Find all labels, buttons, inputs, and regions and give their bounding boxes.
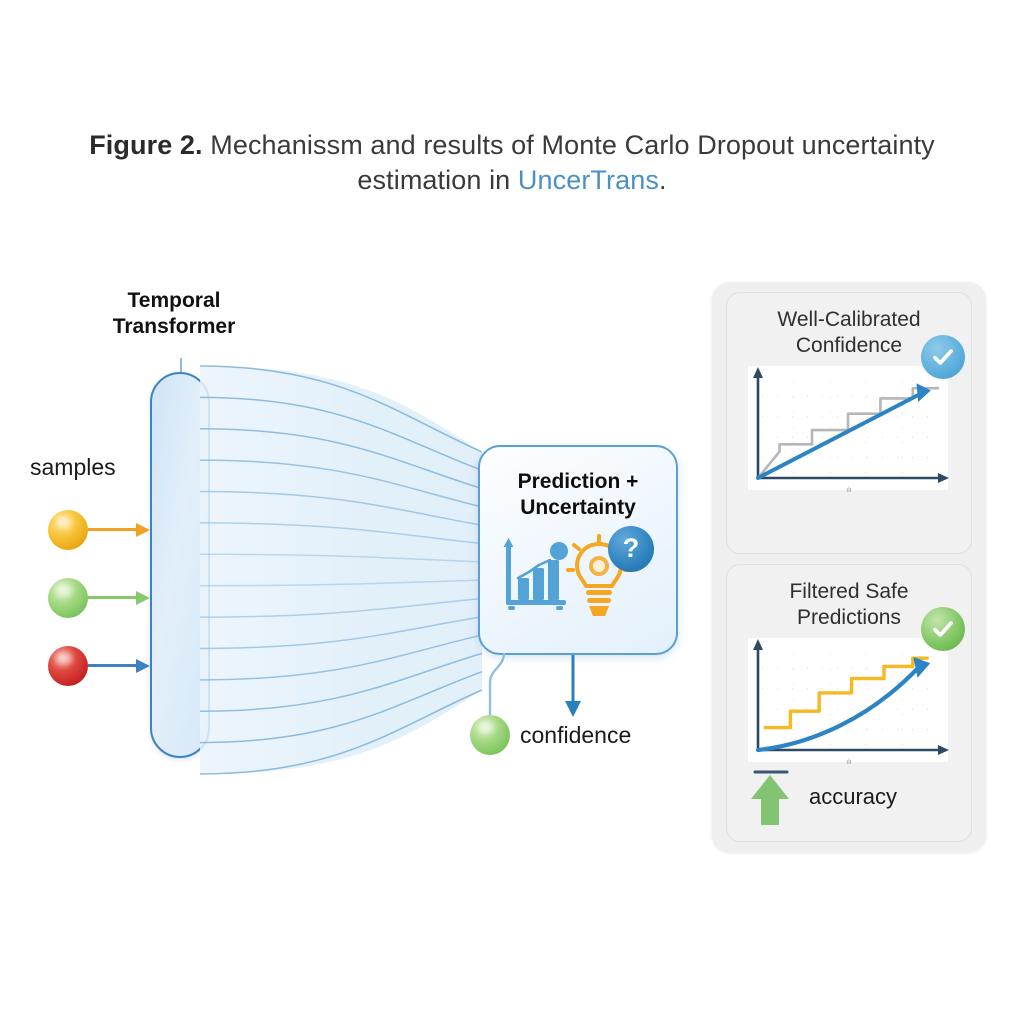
dropout-flow-lines: [200, 360, 500, 780]
check-badge-blue-icon: [921, 335, 965, 379]
figure-number: Figure 2.: [89, 130, 202, 160]
output-arrow: [560, 655, 586, 719]
transformer-tick-mark: [180, 358, 182, 372]
module-title-line-2: Transformer: [88, 314, 260, 340]
mechanism-diagram: Temporal Transformer samples: [0, 260, 710, 820]
question-badge-icon: ?: [608, 526, 654, 572]
prediction-title-line-1: Prediction +: [480, 469, 676, 495]
samples-label: samples: [30, 454, 116, 481]
prediction-box-title: Prediction + Uncertainty: [480, 469, 676, 522]
sample-sphere-orange: [48, 510, 88, 550]
sample-sphere-green: [48, 578, 88, 618]
card-top-title-line-1: Well-Calibrated: [733, 307, 965, 333]
check-glyph: [930, 616, 956, 642]
figure-root: Figure 2. Mechanissm and results of Mont…: [0, 0, 1024, 1024]
prediction-uncertainty-box: Prediction + Uncertainty: [478, 445, 678, 655]
filtered-accuracy-chart: ılı: [742, 636, 956, 768]
question-mark-glyph: ?: [623, 535, 640, 562]
results-panel: Well-Calibrated Confidence ılı: [712, 282, 986, 852]
accuracy-up-arrow-icon: [747, 767, 793, 827]
check-glyph: [930, 344, 956, 370]
confidence-label: confidence: [520, 722, 631, 749]
prediction-title-line-2: Uncertainty: [480, 495, 676, 521]
confidence-connector: [478, 653, 538, 723]
figure-caption: Figure 2. Mechanissm and results of Mont…: [80, 128, 944, 198]
sample-sphere-red: [48, 646, 88, 686]
sample-arrow-green: [88, 596, 150, 599]
card-bottom-title-line-1: Filtered Safe: [733, 579, 965, 605]
sample-arrow-blue: [88, 664, 150, 667]
calibration-chart: ılı: [742, 364, 956, 496]
caption-text-after: .: [659, 165, 667, 195]
card-well-calibrated-confidence: Well-Calibrated Confidence ılı: [726, 292, 972, 554]
card-filtered-safe-predictions: Filtered Safe Predictions ılı: [726, 564, 972, 842]
accuracy-label: accuracy: [809, 784, 897, 810]
svg-text:ılı: ılı: [846, 759, 852, 766]
module-title-line-1: Temporal: [88, 288, 260, 314]
svg-text:ılı: ılı: [846, 487, 852, 494]
confidence-sphere: [470, 715, 510, 755]
accuracy-indicator: accuracy: [747, 767, 897, 827]
bar-chart-icon: [496, 534, 574, 618]
caption-accent-term: UncerTrans: [518, 165, 659, 195]
temporal-transformer-title: Temporal Transformer: [88, 288, 260, 341]
check-badge-green-icon: [921, 607, 965, 651]
sample-arrow-orange: [88, 528, 150, 531]
